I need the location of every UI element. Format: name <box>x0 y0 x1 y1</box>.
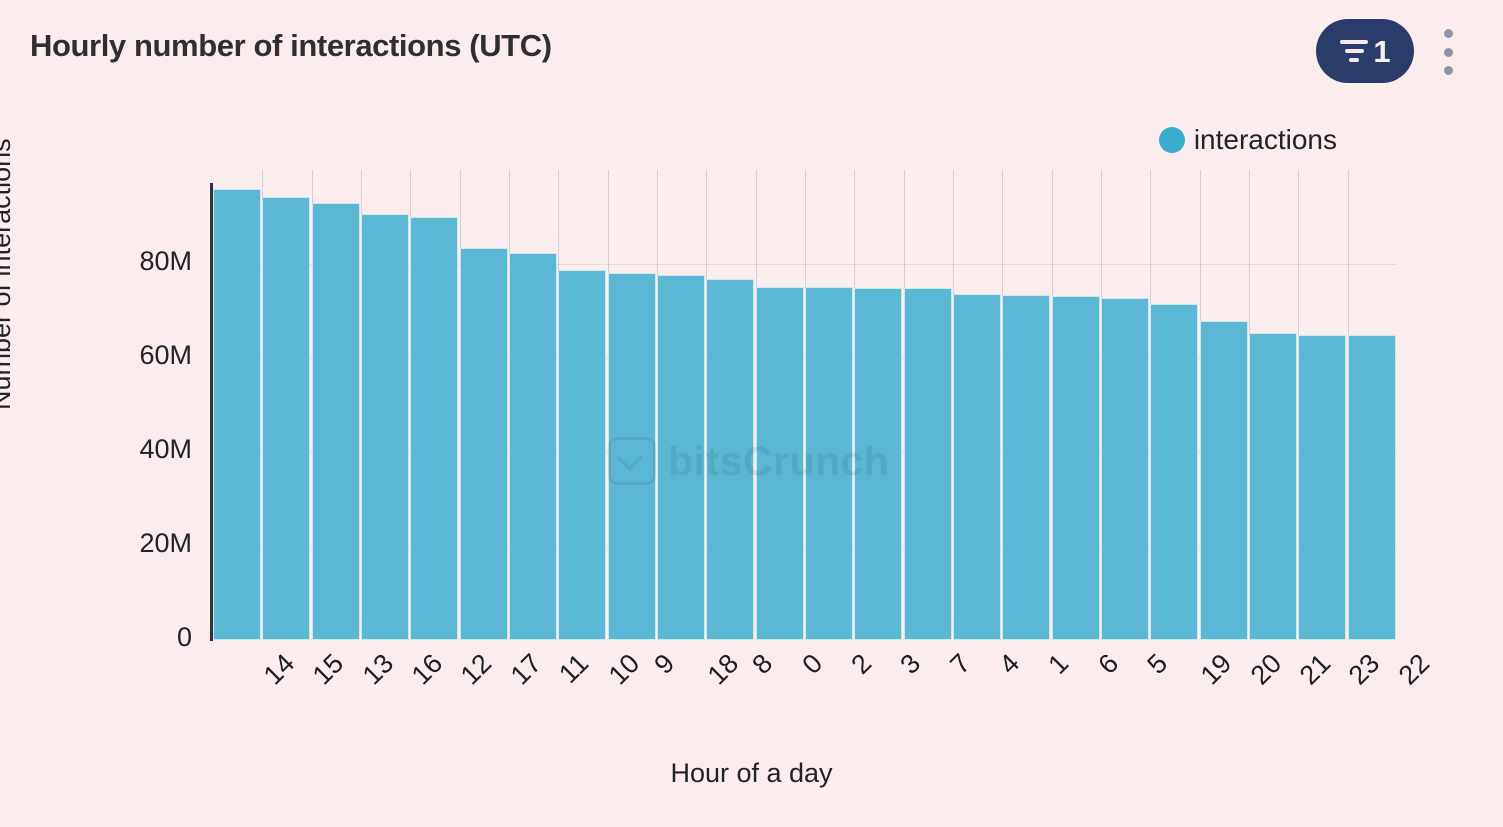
bar[interactable] <box>657 275 705 640</box>
bar[interactable] <box>410 217 458 640</box>
x-axis-tick-label: 5 <box>1141 648 1174 681</box>
x-axis-tick-label: 16 <box>406 648 449 691</box>
x-axis-tick-label: 6 <box>1092 648 1125 681</box>
x-axis-tick-label: 19 <box>1195 648 1238 691</box>
chart-legend: interactions <box>1159 124 1337 156</box>
x-axis-tick-label: 22 <box>1393 648 1436 691</box>
x-axis-tick-label: 20 <box>1245 648 1288 691</box>
x-axis-tick-label: 14 <box>258 648 301 691</box>
bar[interactable] <box>1249 333 1297 640</box>
x-axis-tick-label: 15 <box>307 648 350 691</box>
bar[interactable] <box>706 279 754 640</box>
bar[interactable] <box>1348 335 1396 640</box>
bar[interactable] <box>558 270 606 640</box>
plot-area <box>213 170 1397 640</box>
x-axis-tick-label: 23 <box>1343 648 1386 691</box>
y-axis-tick-label: 0 <box>177 622 192 653</box>
bar[interactable] <box>1101 298 1149 640</box>
bar[interactable] <box>312 203 360 640</box>
x-axis-tick-label: 11 <box>553 648 595 690</box>
x-axis-tick-label: 13 <box>357 648 400 691</box>
x-axis-tick-label: 17 <box>505 648 548 691</box>
x-axis-tick-label: 1 <box>1043 648 1076 681</box>
y-axis-tick-label: 20M <box>139 528 192 559</box>
x-axis-tick-label: 0 <box>796 648 829 681</box>
bar[interactable] <box>1150 304 1198 640</box>
filter-icon <box>1339 40 1369 62</box>
x-axis-tick-label: 18 <box>702 648 745 691</box>
x-axis-tick-label: 8 <box>747 648 780 681</box>
y-axis-tick-label: 80M <box>139 246 192 277</box>
bar[interactable] <box>262 197 310 640</box>
bar[interactable] <box>1052 296 1100 641</box>
x-axis-tick-label: 4 <box>993 648 1026 681</box>
bar[interactable] <box>805 287 853 640</box>
x-axis-title: Hour of a day <box>0 758 1503 789</box>
y-axis-tick-label: 60M <box>139 340 192 371</box>
y-axis-title: Number of interactions <box>0 138 17 410</box>
y-axis-tick-label: 40M <box>139 434 192 465</box>
bar[interactable] <box>608 273 656 640</box>
bar[interactable] <box>904 288 952 640</box>
x-axis-tick-label: 2 <box>845 648 878 681</box>
legend-swatch-interactions <box>1159 127 1185 153</box>
x-axis-tick-label: 21 <box>1294 648 1337 691</box>
bar[interactable] <box>854 288 902 641</box>
filter-button[interactable]: 1 <box>1316 19 1414 83</box>
bar[interactable] <box>509 253 557 640</box>
bar[interactable] <box>953 294 1001 640</box>
x-axis-tick-label: 12 <box>455 648 498 691</box>
x-axis-tick-label: 9 <box>648 648 681 681</box>
x-axis-tick-label: 7 <box>944 648 977 681</box>
x-axis-tick-label: 10 <box>603 648 646 691</box>
bar[interactable] <box>1002 295 1050 640</box>
legend-label-interactions: interactions <box>1194 124 1337 156</box>
filter-count-badge: 1 <box>1373 36 1390 67</box>
vertical-dots-icon[interactable] <box>1435 26 1461 78</box>
x-axis-tick-label: 3 <box>895 648 928 681</box>
bar[interactable] <box>1298 335 1346 641</box>
page-title: Hourly number of interactions (UTC) <box>30 28 552 64</box>
bar[interactable] <box>361 214 409 640</box>
bar[interactable] <box>1200 321 1248 640</box>
bar[interactable] <box>460 248 508 640</box>
bar[interactable] <box>756 287 804 640</box>
bar[interactable] <box>213 189 261 640</box>
